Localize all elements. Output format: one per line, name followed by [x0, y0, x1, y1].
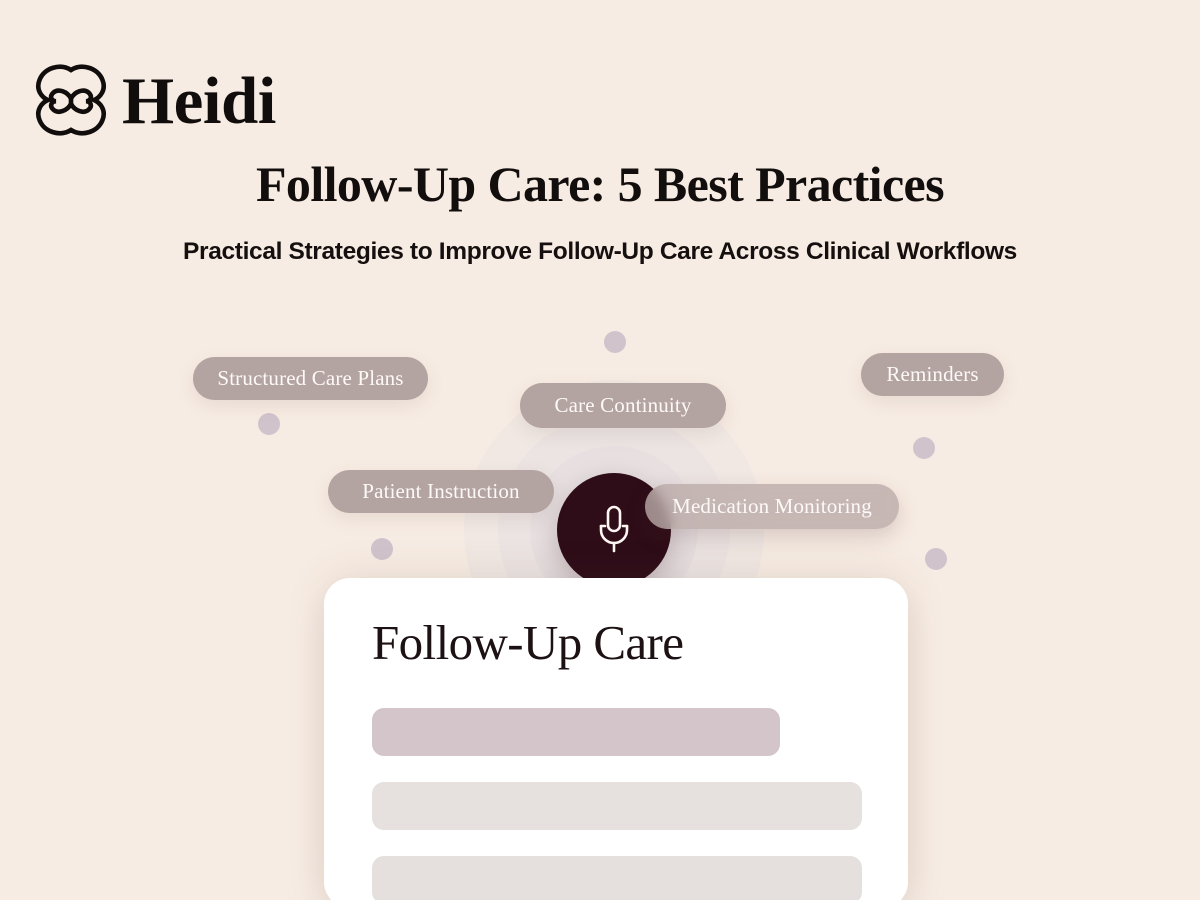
- note-skeleton-row: [372, 708, 780, 756]
- note-preview-card: Follow-Up Care: [324, 578, 908, 900]
- keyword-pill-reminders[interactable]: Reminders: [861, 353, 1004, 396]
- keyword-pill-medication-monitoring[interactable]: Medication Monitoring: [645, 484, 899, 529]
- keyword-pill-patient-instruction[interactable]: Patient Instruction: [328, 470, 554, 513]
- note-skeleton-row: [372, 856, 862, 900]
- decorative-dot: [258, 413, 280, 435]
- page-subtitle: Practical Strategies to Improve Follow-U…: [0, 238, 1200, 266]
- page-title: Follow-Up Care: 5 Best Practices: [0, 156, 1200, 212]
- microphone-icon: [591, 504, 637, 556]
- brand-name: Heidi: [122, 68, 276, 135]
- heidi-clover-logo-icon: [34, 64, 108, 136]
- decorative-dot: [371, 538, 393, 560]
- keyword-pill-structured-care-plans[interactable]: Structured Care Plans: [193, 357, 428, 400]
- decorative-dot: [913, 437, 935, 459]
- poster-canvas: Heidi Follow-Up Care: 5 Best Practices P…: [0, 0, 1200, 900]
- decorative-dot: [604, 331, 626, 353]
- brand-lockup: Heidi: [34, 60, 276, 140]
- note-skeleton-row: [372, 782, 862, 830]
- note-title: Follow-Up Care: [372, 614, 683, 671]
- decorative-dot: [925, 548, 947, 570]
- keyword-pill-care-continuity[interactable]: Care Continuity: [520, 383, 726, 428]
